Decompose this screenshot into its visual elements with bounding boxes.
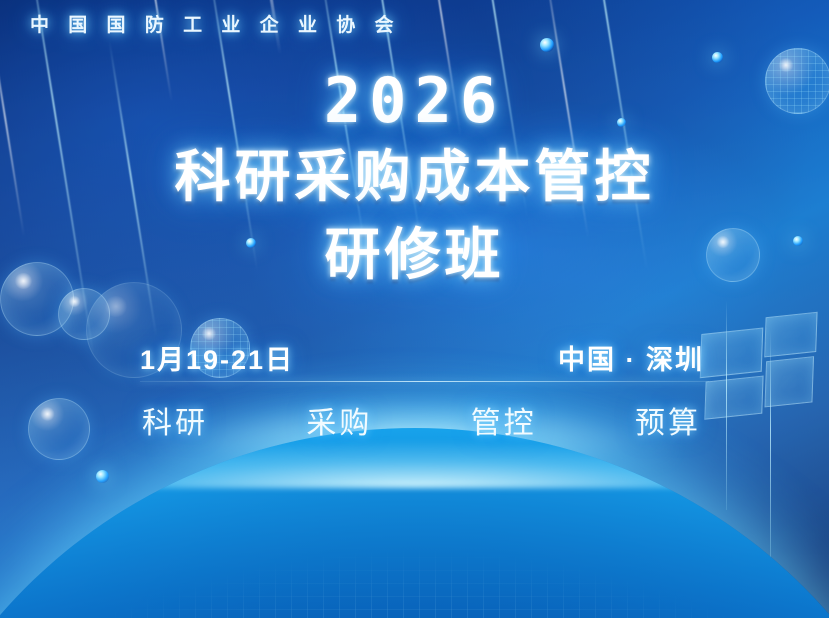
keyword-item: 预算 xyxy=(635,398,701,442)
keyword-item: 科研 xyxy=(142,398,208,442)
meta-row: 1月19-21日 中国 · 深圳 xyxy=(0,338,829,377)
title-block: 2026 科研采购成本管控 研修班 xyxy=(0,70,829,288)
keyword-row: 科研 采购 管控 预算 xyxy=(0,398,829,442)
poster-canvas: 中 国 国 防 工 业 企 业 协 会 2026 科研采购成本管控 研修班 1月… xyxy=(0,0,829,618)
glow-dot xyxy=(540,38,554,52)
divider-line xyxy=(140,381,709,382)
event-title-line-1: 科研采购成本管控 xyxy=(0,144,829,210)
keyword-item: 采购 xyxy=(306,398,372,442)
globe-mesh xyxy=(0,428,829,618)
event-location: 中国 · 深圳 xyxy=(558,338,704,377)
association-name: 中 国 国 防 工 业 企 业 协 会 xyxy=(30,10,401,37)
glow-dot xyxy=(712,52,723,63)
keyword-item: 管控 xyxy=(471,398,537,442)
event-title-line-2: 研修班 xyxy=(0,222,829,288)
wireframe-globe xyxy=(0,428,829,618)
event-date: 1月19-21日 xyxy=(140,338,294,377)
event-year: 2026 xyxy=(0,70,829,132)
